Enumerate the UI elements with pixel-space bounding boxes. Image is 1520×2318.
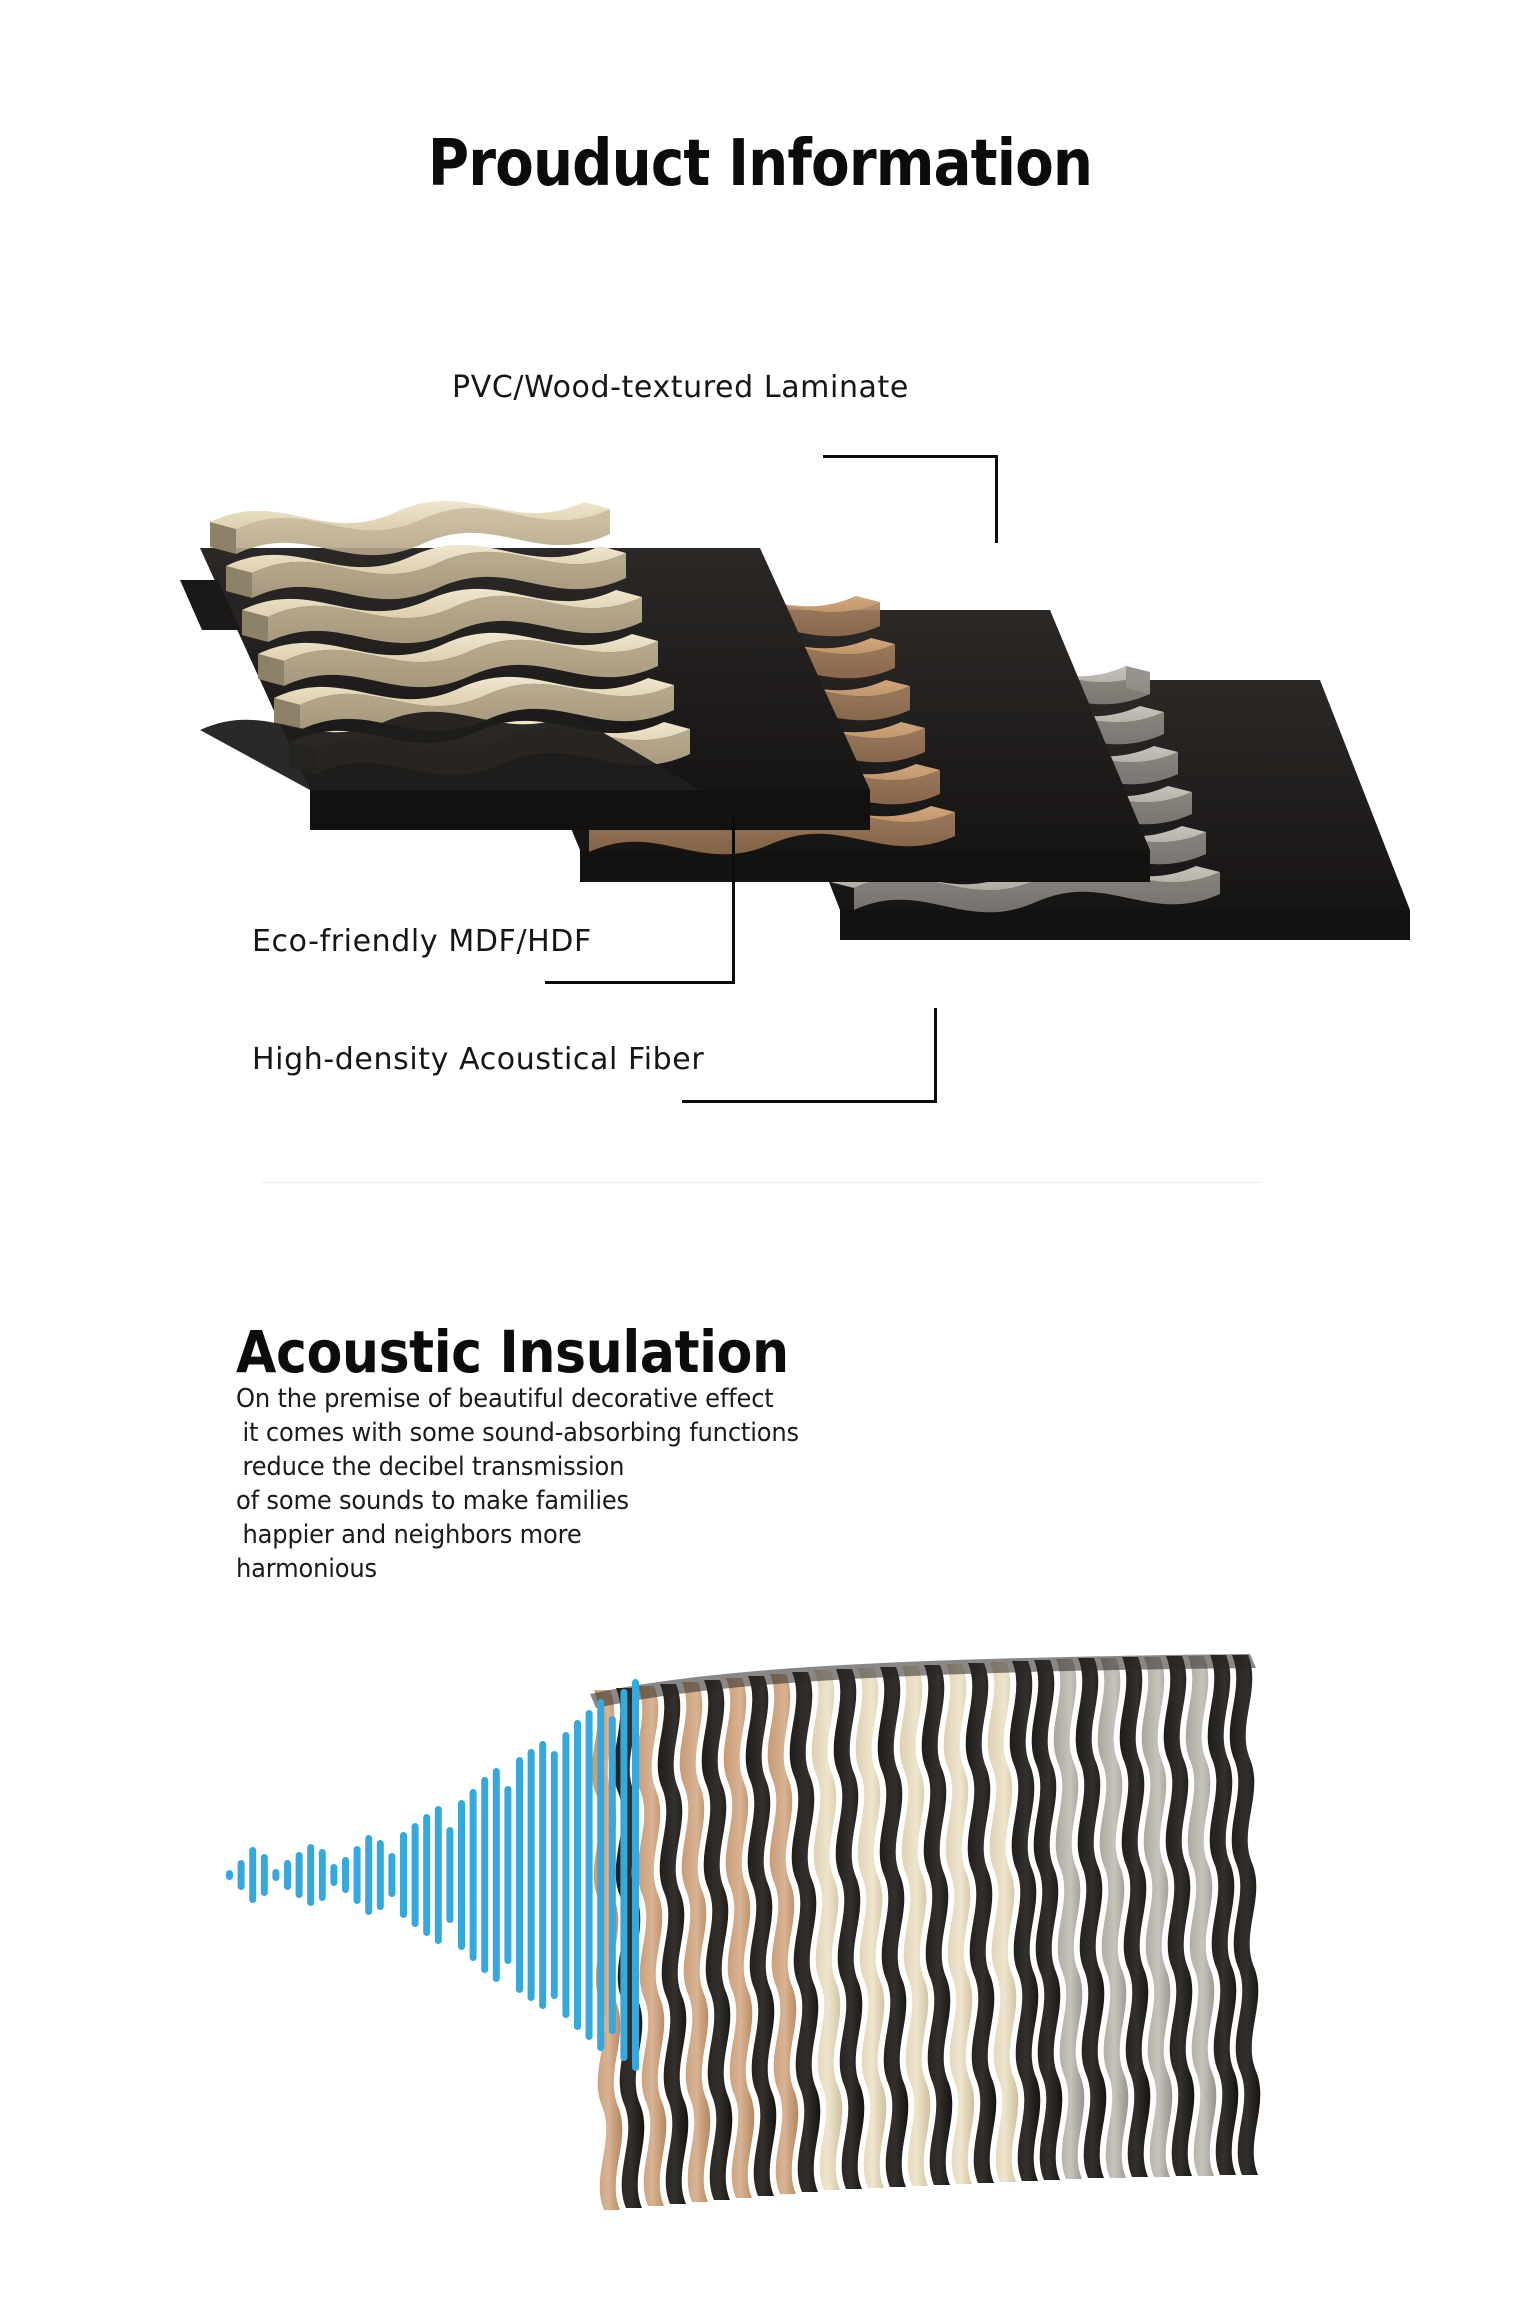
waveform-bar [423, 1814, 430, 1936]
body-line: it comes with some sound-absorbing funct… [236, 1416, 943, 1450]
leader-line-fiber-horizontal [682, 1100, 937, 1103]
body-line: harmonious [236, 1552, 943, 1586]
callout-label-fiber: High-density Acoustical Fiber [252, 1042, 704, 1077]
leader-line-laminate-vertical [995, 455, 998, 543]
waveform-bar [493, 1768, 500, 1982]
waveform-bar [412, 1823, 419, 1927]
product-structure-diagram: PVC/Wood-textured Laminate Eco-friendly … [0, 0, 1520, 1180]
body-line: On the premise of beautiful decorative e… [236, 1382, 943, 1416]
callout-label-mdf: Eco-friendly MDF/HDF [252, 924, 592, 959]
leader-line-mdf-vertical [732, 816, 735, 984]
waveform-bar [458, 1800, 465, 1950]
waveform-bar [377, 1840, 384, 1910]
leader-line-laminate-horizontal [823, 455, 998, 458]
callout-label-laminate: PVC/Wood-textured Laminate [452, 370, 909, 405]
waveform-bar [388, 1853, 395, 1897]
waveform-bar [528, 1749, 535, 2001]
waveform-bar [470, 1789, 477, 1961]
waveform-bar [586, 1710, 593, 2040]
waveform-bar [319, 1849, 326, 1901]
waveform-bar [539, 1741, 546, 2009]
waveform-bar [261, 1854, 268, 1896]
leader-line-mdf-horizontal [545, 981, 735, 984]
wavy-slat-wall-image [590, 1650, 1310, 2250]
waveform-bar [365, 1835, 372, 1915]
waveform-bar [249, 1847, 256, 1903]
waveform-bar [284, 1860, 291, 1890]
waveform-bar [609, 1716, 616, 2034]
waveform-bar [620, 1689, 627, 2061]
leader-line-fiber-vertical [934, 1008, 937, 1103]
sound-waveform-graphic [222, 1660, 652, 2090]
waveform-bar [504, 1786, 511, 1964]
waveform-bar [551, 1751, 558, 1999]
waveform-bar [516, 1757, 523, 1993]
waveform-bar [307, 1844, 314, 1906]
waveform-bar [574, 1720, 581, 2030]
section-title-acoustic-insulation: Acoustic Insulation [236, 1318, 789, 1386]
waveform-bar [354, 1846, 361, 1904]
waveform-bar [400, 1832, 407, 1918]
waveform-bar [481, 1777, 488, 1973]
section-divider [262, 1182, 1262, 1183]
waveform-bar [272, 1869, 279, 1881]
waveform-bar [226, 1870, 233, 1880]
body-line: of some sounds to make families [236, 1484, 943, 1518]
waveform-bar [296, 1852, 303, 1898]
waveform-bar [597, 1699, 604, 2051]
waveform-bar [330, 1864, 337, 1886]
waveform-bar [238, 1860, 245, 1890]
waveform-bar [342, 1857, 349, 1893]
waveform-bar [435, 1806, 442, 1944]
waveform-bar [562, 1732, 569, 2018]
acoustic-insulation-description: On the premise of beautiful decorative e… [236, 1382, 996, 1586]
waveform-bar [446, 1827, 453, 1923]
body-line: reduce the decibel transmission [236, 1450, 943, 1484]
body-line: happier and neighbors more [236, 1518, 943, 1552]
waveform-bar [632, 1679, 639, 2071]
stacked-panels-image [120, 430, 1410, 1130]
